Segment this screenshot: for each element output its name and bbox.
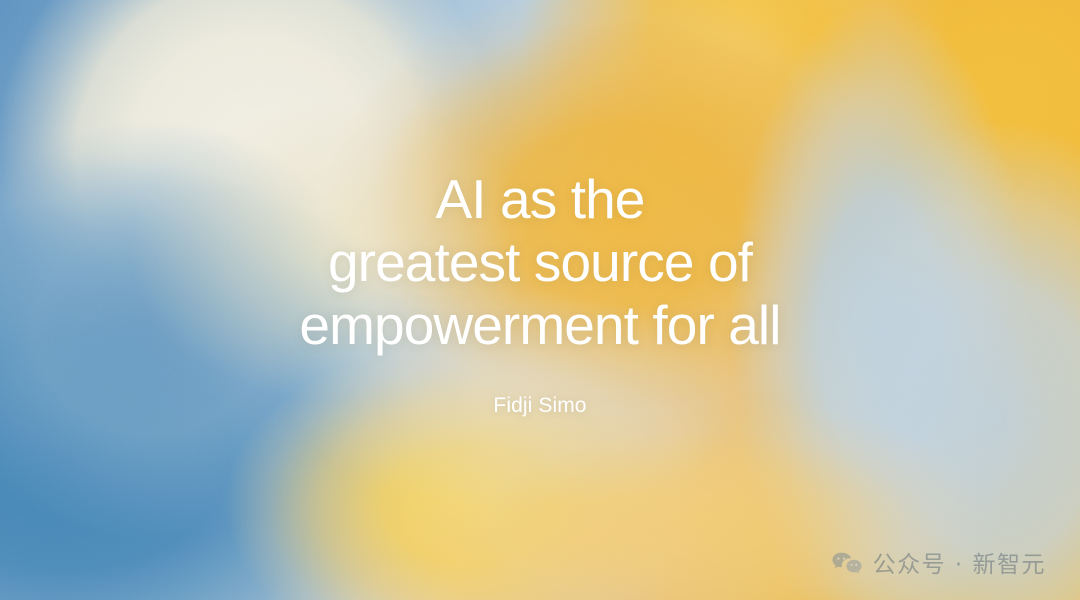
headline-line-1: AI as the (0, 168, 1080, 231)
wechat-icon (832, 552, 862, 578)
headline-line-3: empowerment for all (0, 294, 1080, 357)
watermark-text: 公众号 · 新智元 (873, 552, 1046, 578)
quote-attribution: Fidji Simo (0, 392, 1080, 420)
headline-line-2: greatest source of (0, 231, 1080, 294)
quote-headline: AI as the greatest source of empowerment… (0, 168, 1080, 357)
quote-slide: AI as the greatest source of empowerment… (0, 0, 1080, 600)
watermark: 公众号 · 新智元 (832, 552, 1046, 578)
